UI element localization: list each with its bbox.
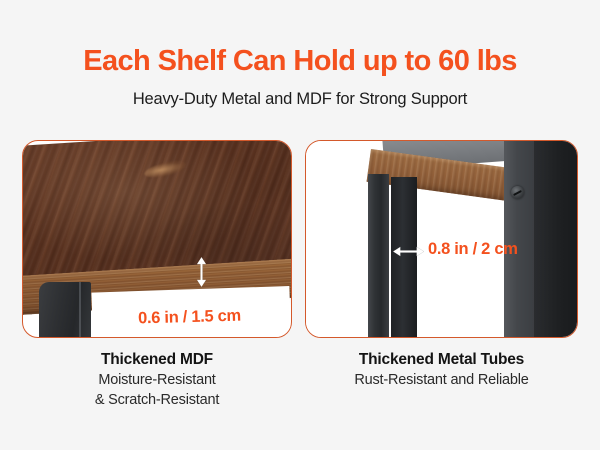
caption-metal-tubes: Thickened Metal Tubes Rust-Resistant and…	[305, 349, 578, 390]
feature-panel-mdf: 0.6 in / 1.5 cm	[22, 140, 292, 338]
wood-knot	[143, 159, 187, 180]
screw-icon	[511, 186, 524, 199]
double-arrow-vertical-icon	[196, 257, 207, 287]
metal-tube-far-right	[534, 141, 577, 337]
caption-mdf: Thickened MDF Moisture-Resistant & Scrat…	[22, 349, 292, 410]
mdf-photo: 0.6 in / 1.5 cm	[23, 141, 291, 337]
metal-tubes-photo: 0.8 in / 2 cm	[306, 141, 577, 337]
caption-mdf-line-1: Moisture-Resistant	[22, 370, 292, 390]
subheadline: Heavy-Duty Metal and MDF for Strong Supp…	[0, 88, 600, 110]
caption-metal-title: Thickened Metal Tubes	[305, 349, 578, 370]
metal-tube-back	[391, 177, 417, 337]
headline: Each Shelf Can Hold up to 60 lbs	[0, 44, 600, 78]
caption-mdf-line-2: & Scratch-Resistant	[22, 390, 292, 410]
metal-tube-front	[368, 174, 389, 337]
feature-panel-metal-tubes: 0.8 in / 2 cm	[305, 140, 578, 338]
metal-measurement-label: 0.8 in / 2 cm	[428, 240, 518, 259]
caption-metal-line-1: Rust-Resistant and Reliable	[305, 370, 578, 390]
caption-mdf-title: Thickened MDF	[22, 349, 292, 370]
product-feature-infographic: Each Shelf Can Hold up to 60 lbs Heavy-D…	[0, 0, 600, 450]
metal-leg	[39, 282, 91, 337]
double-arrow-horizontal-icon	[393, 246, 424, 257]
